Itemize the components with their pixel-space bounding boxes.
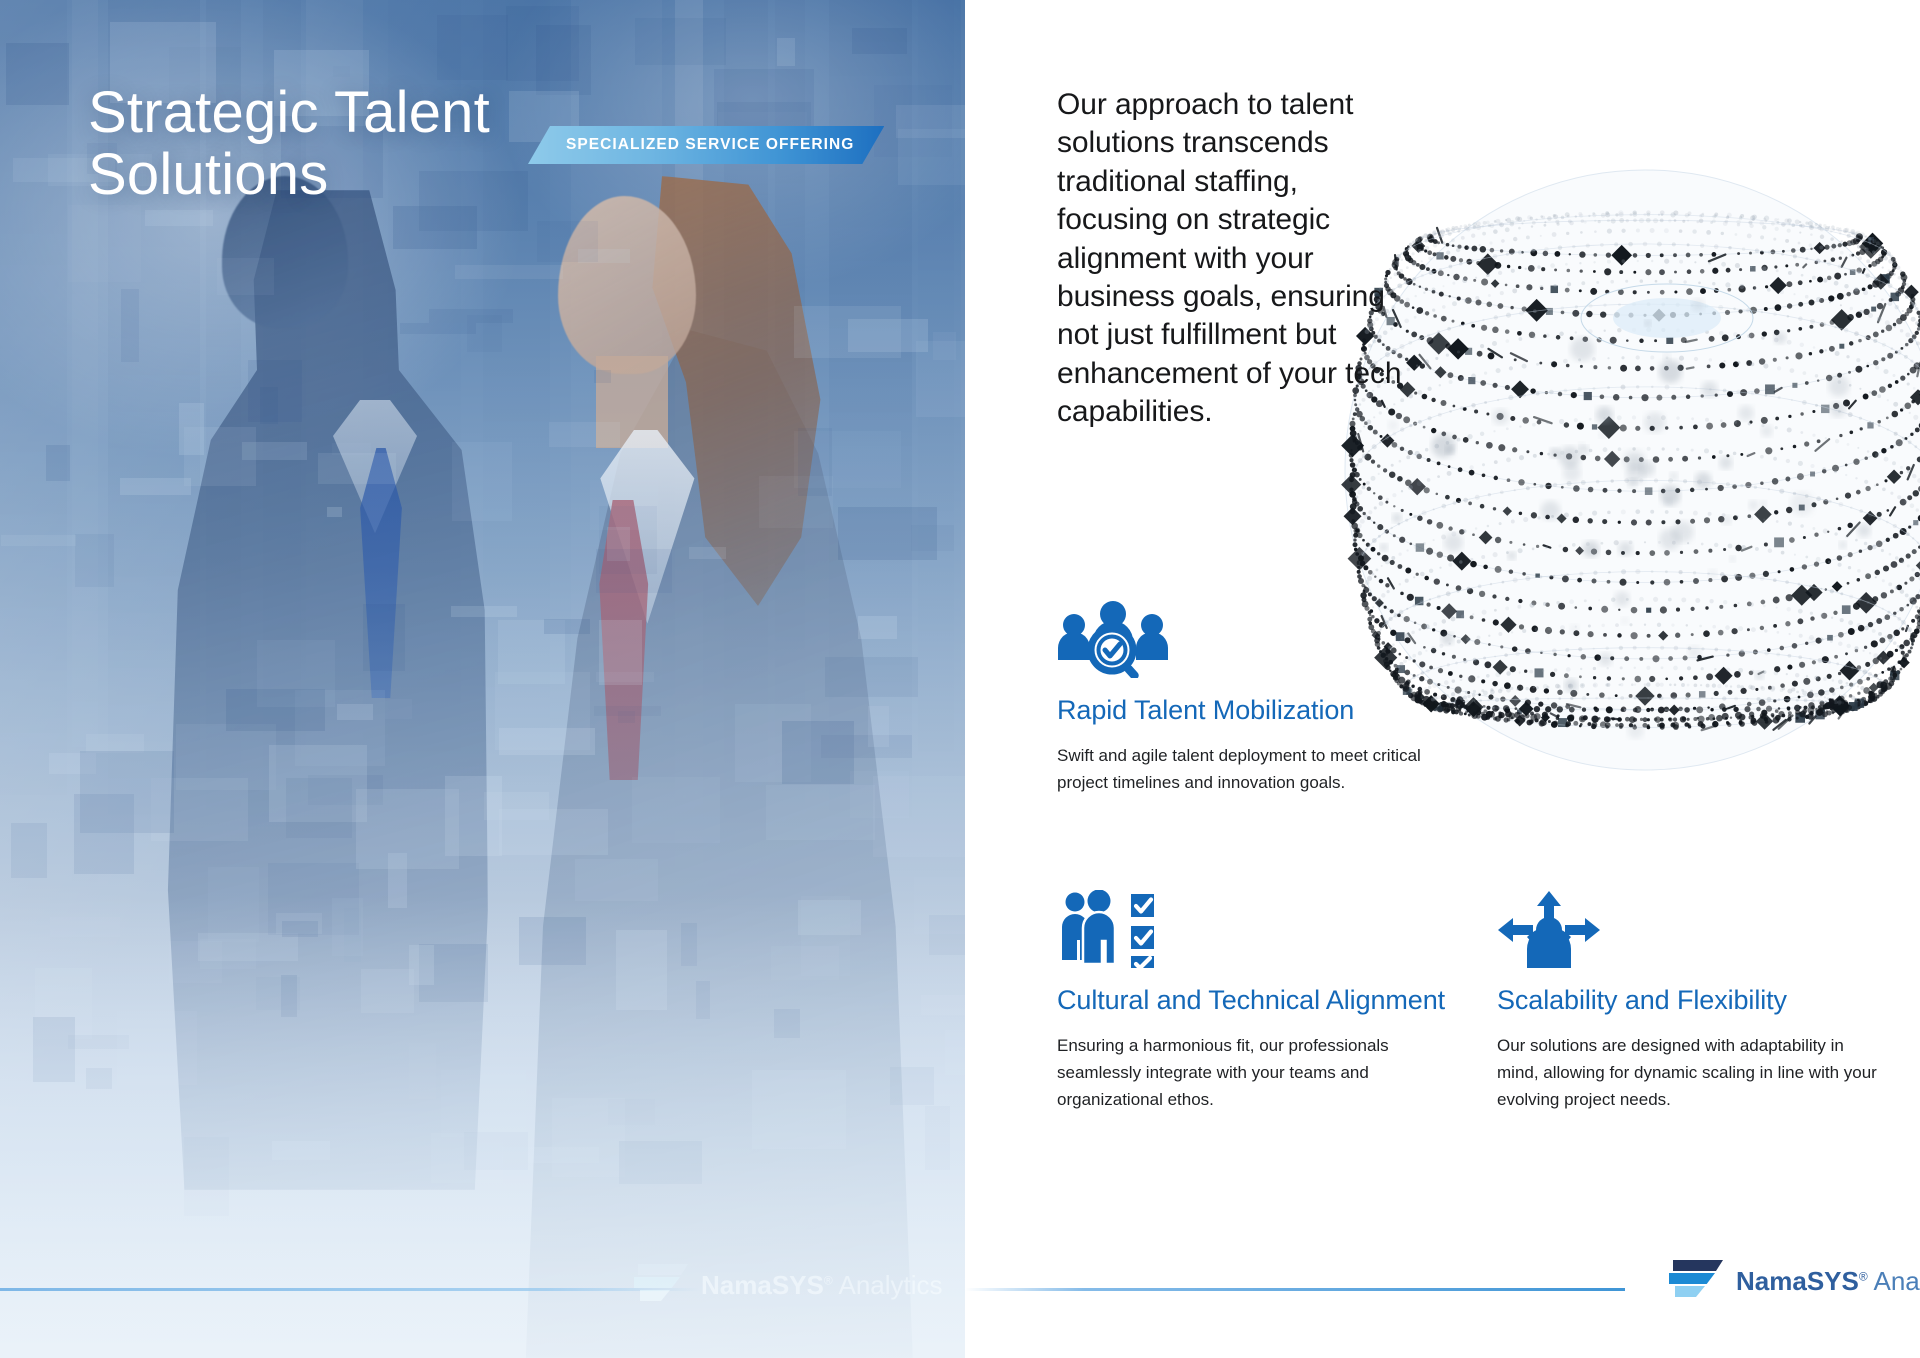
feature-item: Scalability and Flexibility Our solution… [1497,890,1887,1114]
logo-registered-mark: ® [1859,1269,1868,1283]
feature-title: Scalability and Flexibility [1497,984,1887,1017]
feature-description: Swift and agile talent deployment to mee… [1057,743,1457,797]
logo-wordmark: NamaSYS® Analytics [1736,1266,1920,1297]
badge-label: SPECIALIZED SERVICE OFFERING [566,136,854,154]
person-multi-direction-arrows-icon [1497,890,1887,968]
logo-sub: Analytics [1873,1266,1920,1296]
logo-name: NamaSYS [1736,1266,1859,1296]
feature-title: Cultural and Technical Alignment [1057,984,1447,1017]
logo-namasys-analytics-left: NamaSYS® Analytics [630,1262,943,1308]
feature-item: Cultural and Technical Alignment Ensurin… [1057,890,1447,1114]
logo-registered-mark: ® [824,1273,833,1287]
feature-description: Ensuring a harmonious fit, our professio… [1057,1033,1447,1114]
page-title: Strategic Talent Solutions [88,82,490,206]
logo-wordmark: NamaSYS® Analytics [701,1270,943,1301]
footer-divider-left [0,1288,700,1291]
content-panel: Our approach to talent solutions transce… [965,0,1920,1358]
brochure-page: Strategic Talent Solutions SPECIALIZED S… [0,0,1920,1358]
hero-image-panel: Strategic Talent Solutions SPECIALIZED S… [0,0,965,1358]
intro-paragraph: Our approach to talent solutions transce… [1057,86,1405,432]
feature-item: Rapid Talent Mobilization Swift and agil… [1057,600,1457,797]
feature-title: Rapid Talent Mobilization [1057,694,1457,727]
logo-name: NamaSYS [701,1270,824,1300]
namasys-logo-mark-icon [630,1262,688,1308]
footer-divider-right [965,1288,1625,1291]
page-title-line-2: Solutions [88,144,490,206]
two-people-checklist-icon [1057,890,1447,968]
page-title-line-1: Strategic Talent [88,82,490,144]
namasys-logo-mark-icon [1665,1258,1723,1304]
badge-specialized-service-left: SPECIALIZED SERVICE OFFERING [528,126,884,164]
logo-namasys-analytics-right: NamaSYS® Analytics [1665,1258,1920,1304]
logo-sub: Analytics [838,1270,942,1300]
feature-description: Our solutions are designed with adaptabi… [1497,1033,1887,1114]
team-search-check-icon [1057,600,1457,678]
